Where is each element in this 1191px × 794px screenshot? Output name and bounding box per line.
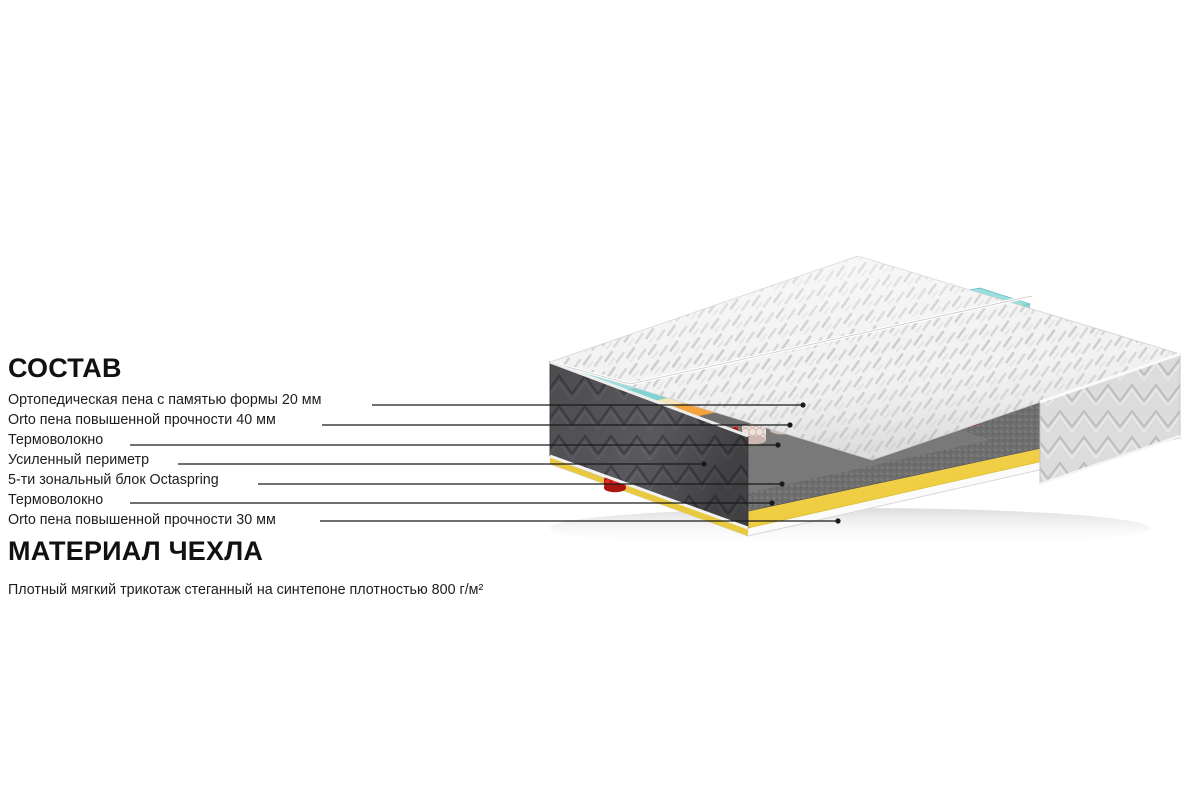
list-item-thermofiber-bottom: Термоволокно [8,490,568,510]
list-item-label: Термоволокно [8,430,103,450]
list-item-memory-foam: Ортопедическая пена с памятью формы 20 м… [8,390,568,410]
list-item-orto-foam-bottom: Orto пена повышенной прочности 30 мм [8,510,568,530]
list-item-label: Термоволокно [8,490,103,510]
list-item-label: Orto пена повышенной прочности 30 мм [8,510,276,530]
cover-material-heading: МАТЕРИАЛ ЧЕХЛА [8,536,263,567]
composition-list: Ортопедическая пена с памятью формы 20 м… [8,390,568,530]
list-item-orto-foam-top: Orto пена повышенной прочности 40 мм [8,410,568,430]
list-item-label: Ортопедическая пена с памятью формы 20 м… [8,390,321,410]
list-item-label: Усиленный периметр [8,450,149,470]
illustration-canvas: СОСТАВ Ортопедическая пена с памятью фор… [0,0,1191,794]
list-item-reinforced-perimeter: Усиленный периметр [8,450,568,470]
mattress-cutaway-illustration [520,250,1191,550]
cover-material-description: Плотный мягкий трикотаж стеганный на син… [8,580,483,600]
composition-heading: СОСТАВ [8,353,122,384]
list-item-thermofiber-top: Термоволокно [8,430,568,450]
list-item-label: Orto пена повышенной прочности 40 мм [8,410,276,430]
list-item-octaspring-block: 5-ти зональный блок Octaspring [8,470,568,490]
list-item-label: 5-ти зональный блок Octaspring [8,470,219,490]
